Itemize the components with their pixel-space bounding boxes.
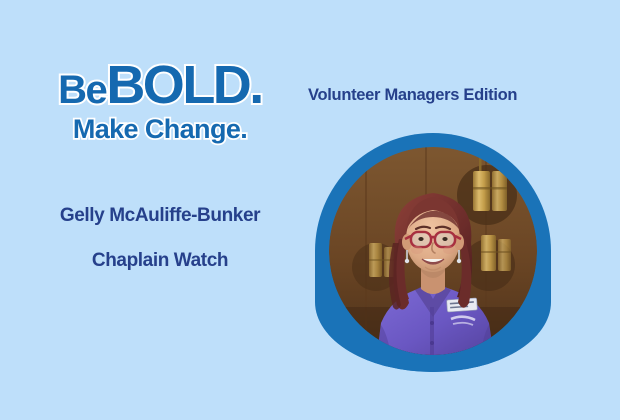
logo-text-bold: BOLD. <box>106 55 262 115</box>
presenter-details: Gelly McAuliffe-Bunker Chaplain Watch <box>0 205 320 272</box>
presentation-slide: BeBOLD. Make Change. Gelly McAuliffe-Bun… <box>0 0 620 420</box>
logo-tagline: Make Change. <box>0 116 320 143</box>
logo-text-be: Be <box>58 68 106 112</box>
bebold-logo: BeBOLD. Make Change. <box>0 58 320 143</box>
portrait-frame <box>315 133 551 372</box>
logo-wordmark: BeBOLD. <box>0 58 320 112</box>
presenter-name: Gelly McAuliffe-Bunker <box>0 205 320 227</box>
presenter-organisation: Chaplain Watch <box>0 250 320 272</box>
presenter-photo <box>329 147 537 355</box>
edition-title: Volunteer Managers Edition <box>308 86 517 105</box>
